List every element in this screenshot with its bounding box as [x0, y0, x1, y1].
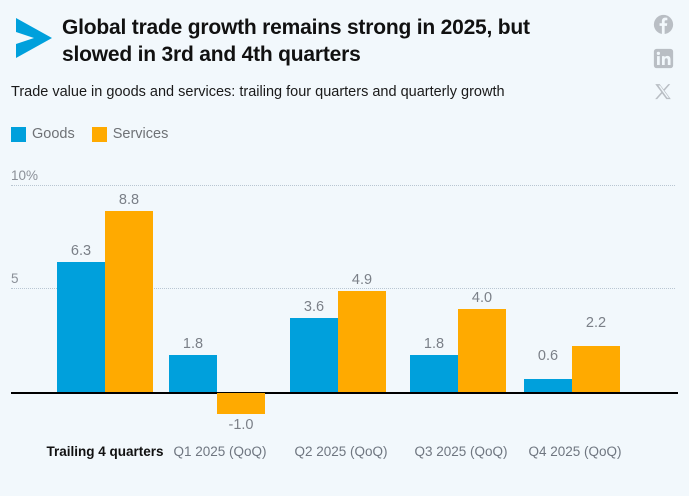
legend-label-services: Services — [113, 126, 169, 142]
chevron-right-logo-icon — [12, 16, 54, 60]
x-icon[interactable] — [653, 82, 674, 103]
linkedin-icon[interactable] — [653, 48, 674, 69]
bar-value-goods-4: 0.6 — [518, 348, 578, 364]
legend-item-services[interactable]: Services — [92, 126, 169, 142]
page-subtitle: Trade value in goods and services: trail… — [11, 82, 631, 102]
legend-item-goods[interactable]: Goods — [11, 126, 75, 142]
bar-value-goods-1: 1.8 — [163, 336, 223, 352]
category-label-1: Q1 2025 (QoQ) — [150, 443, 290, 460]
bar-value-services-2: 4.9 — [332, 272, 392, 288]
facebook-icon[interactable] — [653, 14, 674, 35]
bar-services-0[interactable] — [105, 211, 153, 392]
zero-axis-line — [11, 392, 678, 394]
bar-services-3[interactable] — [458, 309, 506, 392]
bar-goods-0[interactable] — [57, 262, 105, 392]
bar-value-services-3: 4.0 — [452, 290, 512, 306]
bar-goods-3[interactable] — [410, 355, 458, 392]
y-axis-label-5: 5 — [11, 271, 19, 288]
bar-services-2[interactable] — [338, 291, 386, 392]
category-label-2: Q2 2025 (QoQ) — [271, 443, 411, 460]
y-axis-label-10: 10% — [11, 168, 38, 185]
bar-chart: 10% 5 6.3 8.8 1.8 -1.0 3.6 4.9 1.8 4.0 0… — [0, 160, 689, 496]
bar-value-services-1: -1.0 — [211, 417, 271, 433]
gridline-10 — [11, 185, 675, 186]
bar-goods-1[interactable] — [169, 355, 217, 392]
chart-header: Global trade growth remains strong in 20… — [0, 0, 689, 112]
bar-value-goods-3: 1.8 — [404, 336, 464, 352]
bar-value-goods-0: 6.3 — [51, 243, 111, 259]
legend-swatch-services — [92, 127, 107, 142]
legend-label-goods: Goods — [32, 126, 75, 142]
bar-services-1[interactable] — [217, 393, 265, 414]
bar-value-goods-2: 3.6 — [284, 299, 344, 315]
social-share-bar — [651, 14, 675, 103]
plot-area: 10% 5 6.3 8.8 1.8 -1.0 3.6 4.9 1.8 4.0 0… — [0, 160, 689, 405]
bar-goods-4[interactable] — [524, 379, 572, 392]
bar-services-4[interactable] — [572, 346, 620, 392]
chart-legend: Goods Services — [11, 126, 168, 142]
bar-goods-2[interactable] — [290, 318, 338, 392]
page-title: Global trade growth remains strong in 20… — [62, 14, 592, 68]
legend-swatch-goods — [11, 127, 26, 142]
bar-value-services-0: 8.8 — [99, 192, 159, 208]
category-label-4: Q4 2025 (QoQ) — [505, 443, 645, 460]
bar-value-services-4: 2.2 — [566, 315, 626, 331]
